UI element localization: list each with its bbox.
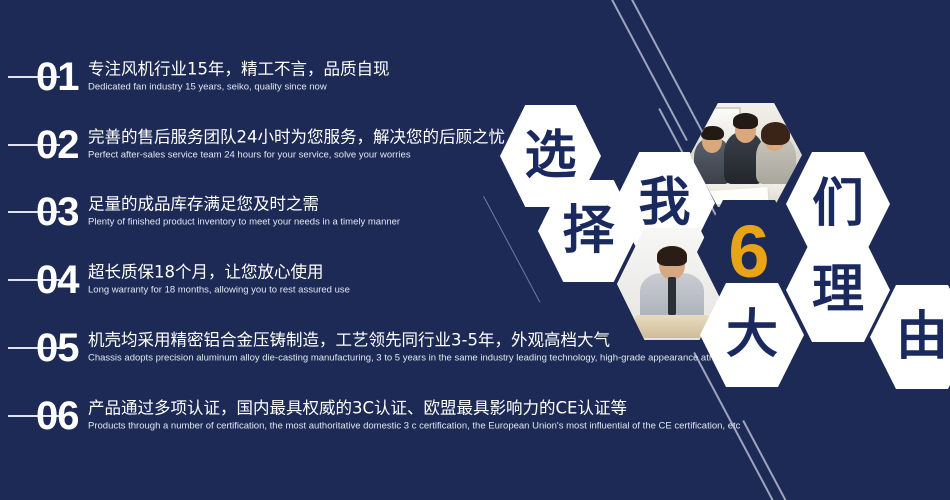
- hexagon-label: 大: [726, 309, 778, 361]
- reason-title-en: Dedicated fan industry 15 years, seiko, …: [88, 81, 390, 93]
- reason-number: 06: [36, 396, 79, 436]
- reason-title-en: Products through a number of certificati…: [88, 420, 740, 432]
- photo-hair-left: [701, 126, 723, 141]
- reason-title-en: Perfect after-sales service team 24 hour…: [88, 149, 505, 161]
- reason-title-cn: 超长质保18个月，让您放心使用: [88, 262, 350, 283]
- hexagon-label: 我: [638, 177, 690, 229]
- photo-necktie: [668, 277, 677, 315]
- reason-number: 05: [36, 328, 79, 368]
- reason-title-cn: 完善的售后服务团队24小时为您服务，解决您的后顾之忧: [88, 127, 505, 148]
- reason-number: 04: [36, 260, 79, 300]
- reason-number: 02: [36, 125, 79, 165]
- reason-title-en: Chassis adopts precision aluminum alloy …: [88, 352, 751, 364]
- hexagon-label: 择: [562, 205, 614, 257]
- reason-title-en: Plenty of finished product inventory to …: [88, 216, 400, 228]
- hexagon-label: 们: [812, 178, 864, 230]
- photo-laptop: [635, 315, 710, 337]
- photo-hair: [657, 246, 688, 266]
- hexagon-li[interactable]: 理: [786, 238, 890, 342]
- hexagon-label: 由: [896, 311, 948, 363]
- photo-hair-center: [733, 113, 759, 129]
- reason-title-cn: 产品通过多项认证，国内最具权威的3C认证、欧盟最具影响力的CE认证等: [88, 398, 740, 419]
- reason-number: 03: [36, 192, 79, 232]
- hexagon-label: 理: [812, 264, 864, 316]
- reason-title-cn: 足量的成品库存满足您及时之需: [88, 194, 400, 215]
- hexagon-label: 选: [524, 130, 576, 182]
- reason-number: 01: [36, 57, 79, 97]
- photo-hair-right: [761, 122, 790, 145]
- reason-title-cn: 专注风机行业15年，精工不言，品质自现: [88, 59, 390, 80]
- hexagon-label: 6: [728, 215, 769, 289]
- reason-title-en: Long warranty for 18 months, allowing yo…: [88, 284, 350, 296]
- banner-canvas: 01 专注风机行业15年，精工不言，品质自现 Dedicated fan ind…: [0, 0, 950, 500]
